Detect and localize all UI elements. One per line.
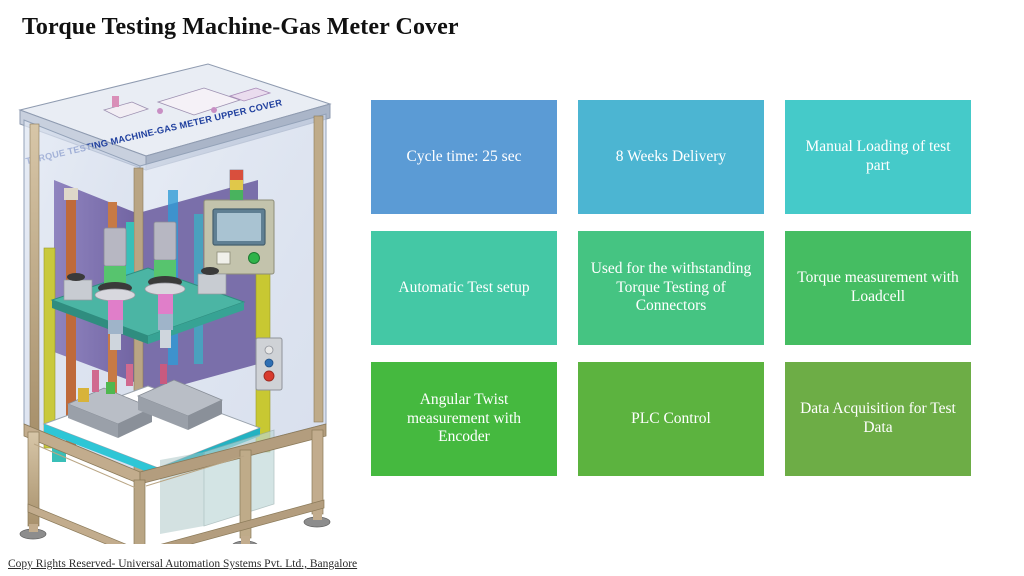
tile-label: Cycle time: 25 sec [407, 148, 522, 167]
tile-plc-control: PLC Control [578, 362, 764, 476]
tile-label: 8 Weeks Delivery [616, 148, 726, 167]
page-title: Torque Testing Machine-Gas Meter Cover [22, 14, 459, 41]
hmi-control-panel [204, 200, 274, 274]
start-button-green [249, 253, 260, 264]
tile-label: Angular Twist measurement with Encoder [381, 391, 547, 448]
tile-label: Manual Loading of test part [795, 138, 961, 176]
tile-delivery: 8 Weeks Delivery [578, 100, 764, 214]
tile-torque-measurement: Torque measurement with Loadcell [785, 231, 971, 345]
tile-label: PLC Control [631, 410, 711, 429]
tile-automatic-test-setup: Automatic Test setup [371, 231, 557, 345]
machine-cad-image: TORQUE TESTING MACHINE-GAS METER UPPER C… [8, 52, 358, 544]
side-pushbutton-box [256, 338, 282, 390]
tile-withstanding-torque: Used for the withstanding Torque Testing… [578, 231, 764, 345]
tile-data-acquisition: Data Acquisition for Test Data [785, 362, 971, 476]
tile-cycle-time: Cycle time: 25 sec [371, 100, 557, 214]
signal-light-tower [230, 170, 243, 200]
tile-label: Torque measurement with Loadcell [795, 269, 961, 307]
tile-label: Automatic Test setup [398, 279, 529, 298]
copyright-footer: Copy Rights Reserved- Universal Automati… [8, 558, 357, 570]
hmi-screen [217, 213, 261, 241]
feature-tile-grid: Cycle time: 25 sec 8 Weeks Delivery Manu… [371, 100, 971, 476]
tile-label: Data Acquisition for Test Data [795, 400, 961, 438]
tile-angular-twist: Angular Twist measurement with Encoder [371, 362, 557, 476]
tile-manual-loading: Manual Loading of test part [785, 100, 971, 214]
tile-label: Used for the withstanding Torque Testing… [588, 260, 754, 317]
